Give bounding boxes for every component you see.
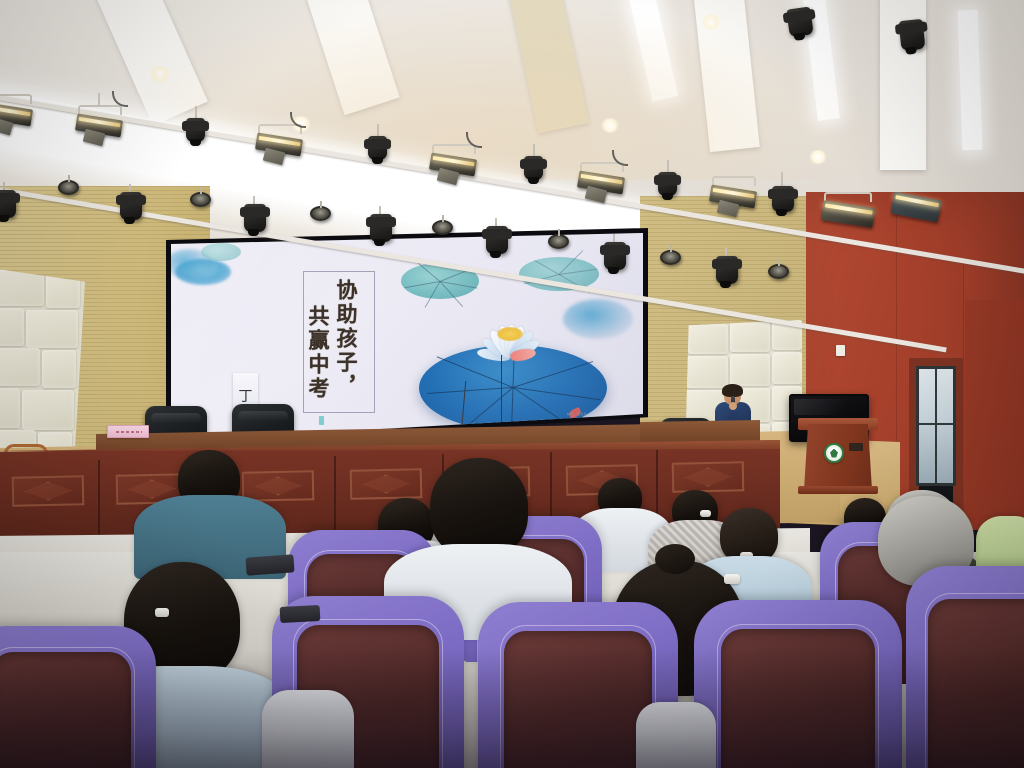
audience-shoulders [262,690,354,768]
par-can-lens [768,264,789,279]
fixture-head [120,192,142,220]
acoustic-block [0,348,40,386]
fixture-yoke [78,105,122,115]
slide-title-line2: 共赢中考 [307,305,329,401]
auditorium-seat[interactable] [694,600,902,768]
school-crest-icon [824,443,844,463]
audience-shoulders [636,702,716,768]
podium-control-plate[interactable] [849,443,863,451]
fixture-head [716,256,738,284]
lily-stem [501,355,502,425]
fixture-head [604,242,626,270]
wall-red-far [965,300,1024,530]
lilypad-teal [201,243,241,261]
recessed-downlight [808,150,828,164]
acoustic-block [0,270,44,306]
recessed-downlight [600,118,620,133]
acoustic-block [0,308,24,346]
facade-diamond-panel [350,468,423,500]
recessed-downlight [148,66,172,82]
fixture-head [658,172,677,196]
light-switch-plate[interactable] [836,345,845,356]
seat-piping [500,625,656,768]
name-placard [107,425,149,438]
presenter-hand [729,402,737,410]
ink-splash [563,299,633,339]
seat-piping [717,624,879,768]
facade-divider [334,456,336,536]
fixture-head [786,6,814,37]
seat-armrest [280,605,321,623]
seat-piping [0,647,135,768]
acoustic-block [730,354,770,386]
lilypad-vein [513,361,593,388]
podium-base [798,486,878,494]
acoustic-block [688,324,728,354]
fixture-yoke [712,176,756,186]
fixture-head [772,186,794,212]
fixture-head [898,19,925,51]
lilypad-vein [559,269,597,275]
acoustic-block [730,322,770,352]
hair-bun [655,544,695,574]
hair-clip [155,608,169,617]
lilypad-vein [513,387,600,400]
window-mullion [919,423,953,425]
lilypad-vein [535,260,560,275]
fixture-head [486,226,508,254]
wall-seam [963,260,964,530]
fixture-head [524,156,543,180]
audience-head [430,458,528,558]
fixture-head [368,136,387,160]
slide-title-line1: 协助孩子， [335,279,357,399]
fixture-head [244,204,266,232]
acoustic-block [42,350,76,388]
par-can-lens [432,220,453,235]
acoustic-block [22,390,74,430]
fixture-yoke [432,144,476,154]
acoustic-block [686,356,728,388]
seat-armrest [245,554,294,575]
ceiling-light-slot [958,10,983,151]
acoustic-block [0,388,20,428]
acoustic-block [26,310,78,348]
facade-diamond-panel [242,470,315,502]
facade-diamond-panel [672,461,745,493]
par-can-lens [660,250,681,265]
fixture-head [0,190,16,218]
monitor-glare [794,399,864,415]
slide-accent-mark [319,416,324,425]
fixture-yoke [0,94,32,104]
seat-piping [925,593,1024,768]
fixture-head [186,118,205,142]
hair-clip [700,510,711,517]
hair-clip [724,574,740,584]
acoustic-block [772,352,802,384]
lilypad-vein [425,281,441,307]
water-lily-flower [461,295,557,357]
par-can-lens [190,192,211,207]
par-can-lens [58,180,79,195]
lily-stamen [497,327,523,341]
par-can-lens [548,234,569,249]
auditorium-scene: 协助孩子， 共赢中考 丁 制作：某某某 日期：二〇二三年六月 [0,0,1024,768]
auditorium-seat[interactable] [0,626,156,768]
recessed-downlight [700,14,722,30]
fixture-head [370,214,392,242]
facade-diamond-panel [12,475,85,507]
window [916,366,956,486]
par-can-lens [310,206,331,221]
window-mullion [935,369,937,483]
auditorium-seat[interactable] [906,566,1024,768]
facade-divider [98,460,100,540]
